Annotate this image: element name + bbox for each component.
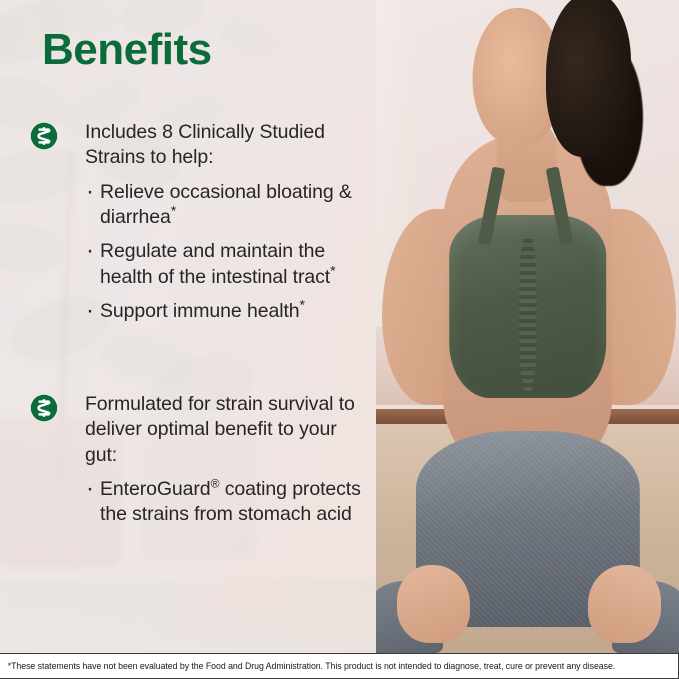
list-item: Regulate and maintain the health of the …: [85, 239, 370, 290]
model-hand-right: [588, 565, 661, 643]
page-title: Benefits: [42, 28, 212, 72]
model-hair: [546, 0, 631, 157]
benefit-sublist-1: Relieve occasional bloating & diarrhea* …: [85, 180, 370, 325]
benefit-lead-1: Includes 8 Clinically Studied Strains to…: [85, 120, 370, 171]
list-item: Support immune health*: [85, 299, 370, 324]
benefits-content: Benefits Includes 8 Clinically Studied S…: [0, 0, 376, 653]
benefit-lead-2: Formulated for strain survival to delive…: [85, 392, 370, 468]
benefits-infographic: Benefits Includes 8 Clinically Studied S…: [0, 0, 679, 679]
benefit-group-2: Formulated for strain survival to delive…: [30, 392, 370, 528]
lifestyle-photo: [376, 0, 679, 653]
list-item: EnteroGuard® coating protects the strain…: [85, 477, 370, 528]
gut-intestine-icon: [30, 122, 58, 150]
list-item: Relieve occasional bloating & diarrhea*: [85, 180, 370, 231]
fda-disclaimer-text: *These statements have not been evaluate…: [0, 661, 615, 671]
crop-top-ruching: [518, 235, 536, 392]
benefit-group-1: Includes 8 Clinically Studied Strains to…: [30, 120, 370, 324]
gut-intestine-icon: [30, 394, 58, 422]
model-hand-left: [397, 565, 470, 643]
fda-disclaimer-bar: *These statements have not been evaluate…: [0, 653, 679, 679]
benefit-sublist-2: EnteroGuard® coating protects the strain…: [85, 477, 370, 528]
